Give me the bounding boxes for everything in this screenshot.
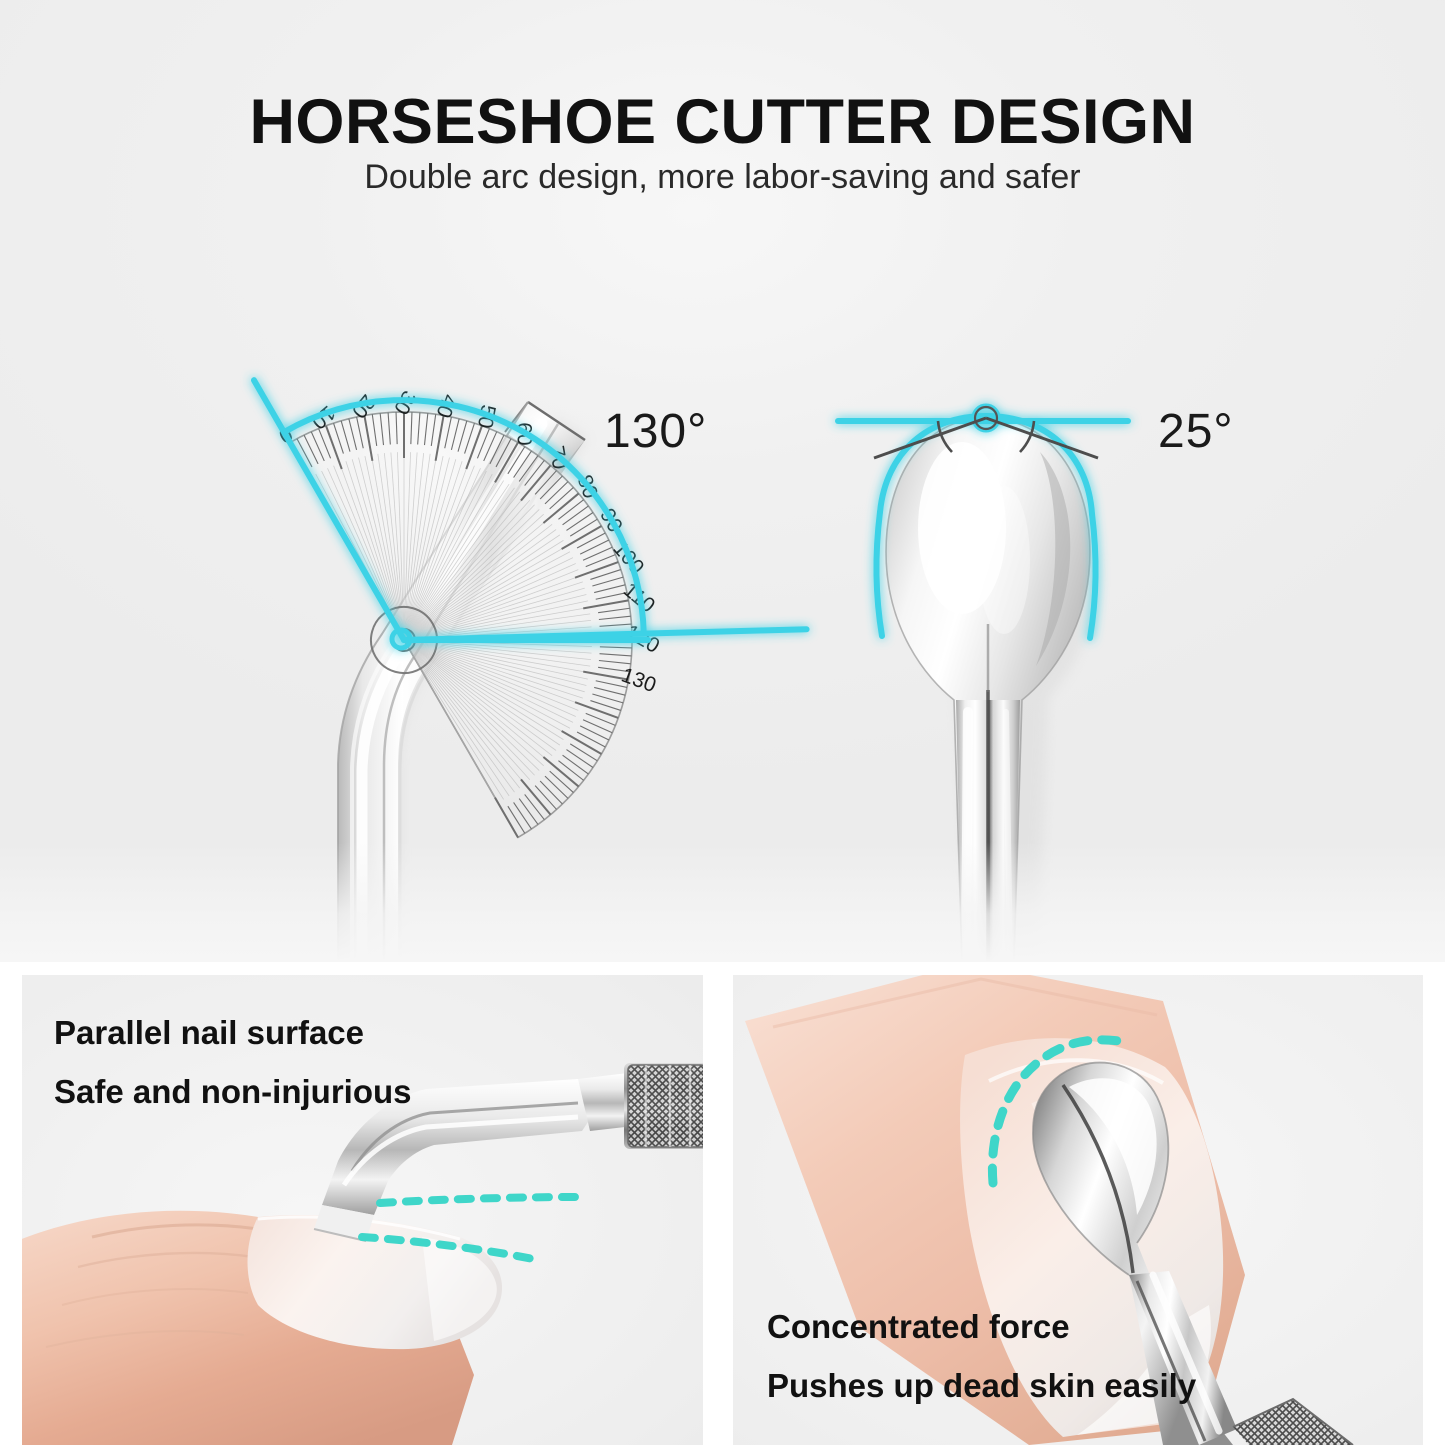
top-diagram-panel: HORSESHOE CUTTER DESIGN Double arc desig…: [0, 0, 1445, 962]
top-diagram-graphics: 0102030405060708090100110120130: [0, 0, 1445, 962]
product-infographic: HORSESHOE CUTTER DESIGN Double arc desig…: [0, 0, 1445, 1445]
angle-label-25: 25°: [1158, 404, 1234, 459]
caption-pushes-up-dead-skin: Pushes up dead skin easily: [767, 1367, 1196, 1405]
bottom-panels-row: Parallel nail surface Safe and non-injur…: [0, 962, 1445, 1445]
caption-concentrated-force: Concentrated force: [767, 1308, 1070, 1346]
caption-parallel-nail-surface: Parallel nail surface: [54, 1014, 364, 1052]
panel-concentrated-force: Concentrated force Pushes up dead skin e…: [733, 975, 1423, 1445]
panel-parallel-nail-surface: Parallel nail surface Safe and non-injur…: [22, 975, 703, 1445]
protractor: 0102030405060708090100110120130: [251, 300, 735, 854]
caption-safe-non-injurious: Safe and non-injurious: [54, 1073, 412, 1111]
thumb-photo: [22, 1211, 502, 1445]
angle-label-130: 130°: [604, 404, 707, 459]
spoon-pusher-tool: [886, 418, 1094, 962]
